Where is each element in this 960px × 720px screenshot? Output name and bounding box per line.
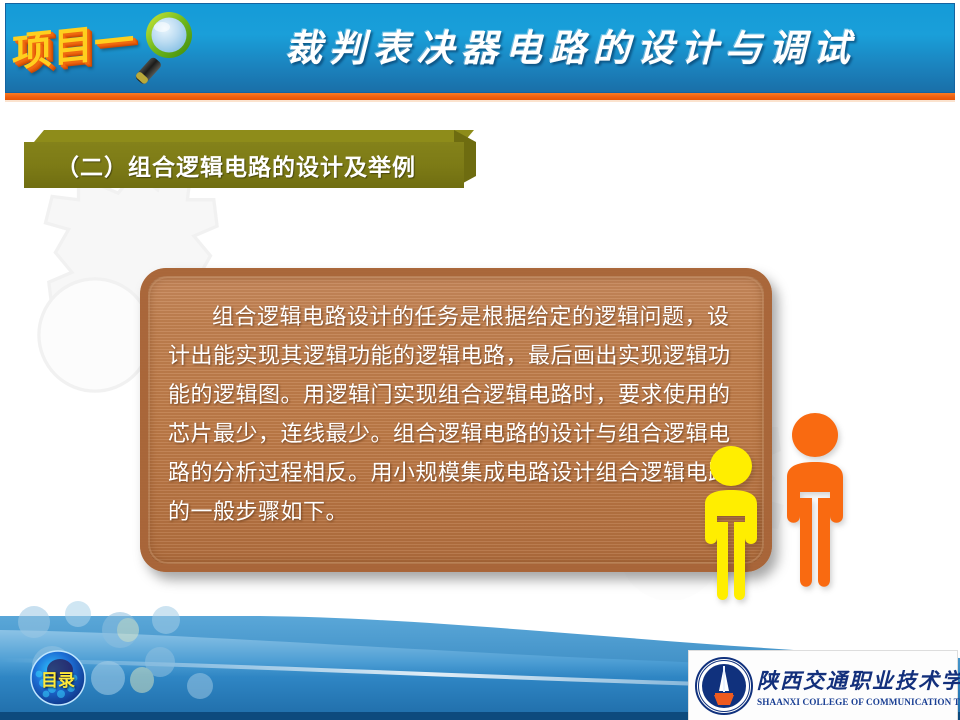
section-subtitle-plaque: （二）组合逻辑电路的设计及举例	[24, 130, 484, 188]
plaque-body: （二）组合逻辑电路的设计及举例	[24, 142, 464, 188]
project-badge-label: 项目一	[12, 8, 135, 79]
institution-logo: 陕西交通职业技术学院 SHAANXI COLLEGE OF COMMUNICAT…	[688, 650, 958, 720]
page-title: 裁判表决器电路的设计与调试	[200, 0, 942, 90]
institution-seal-icon	[695, 657, 753, 715]
institution-name-cn: 陕西交通职业技术学院	[757, 665, 960, 695]
institution-name-en: SHAANXI COLLEGE OF COMMUNICATION TECHNOL…	[757, 697, 960, 707]
header-orange-rule	[5, 93, 955, 100]
person-figure-orange	[776, 410, 854, 594]
person-figure-yellow	[694, 444, 768, 604]
section-subtitle-label: （二）组合逻辑电路的设计及举例	[24, 148, 416, 182]
plaque-top-bevel	[34, 130, 474, 142]
contents-menu-button[interactable]: 目录	[30, 650, 86, 706]
content-panel: 组合逻辑电路设计的任务是根据给定的逻辑问题，设计出能实现其逻辑功能的逻辑电路，最…	[140, 268, 772, 572]
magnifier-icon	[122, 8, 202, 86]
contents-menu-label: 目录	[30, 650, 86, 706]
institution-logo-texts: 陕西交通职业技术学院 SHAANXI COLLEGE OF COMMUNICAT…	[757, 665, 960, 707]
presentation-slide: 项目一	[0, 0, 960, 720]
content-panel-text: 组合逻辑电路设计的任务是根据给定的逻辑问题，设计出能实现其逻辑功能的逻辑电路，最…	[168, 298, 744, 532]
header-light-rule	[5, 100, 955, 102]
